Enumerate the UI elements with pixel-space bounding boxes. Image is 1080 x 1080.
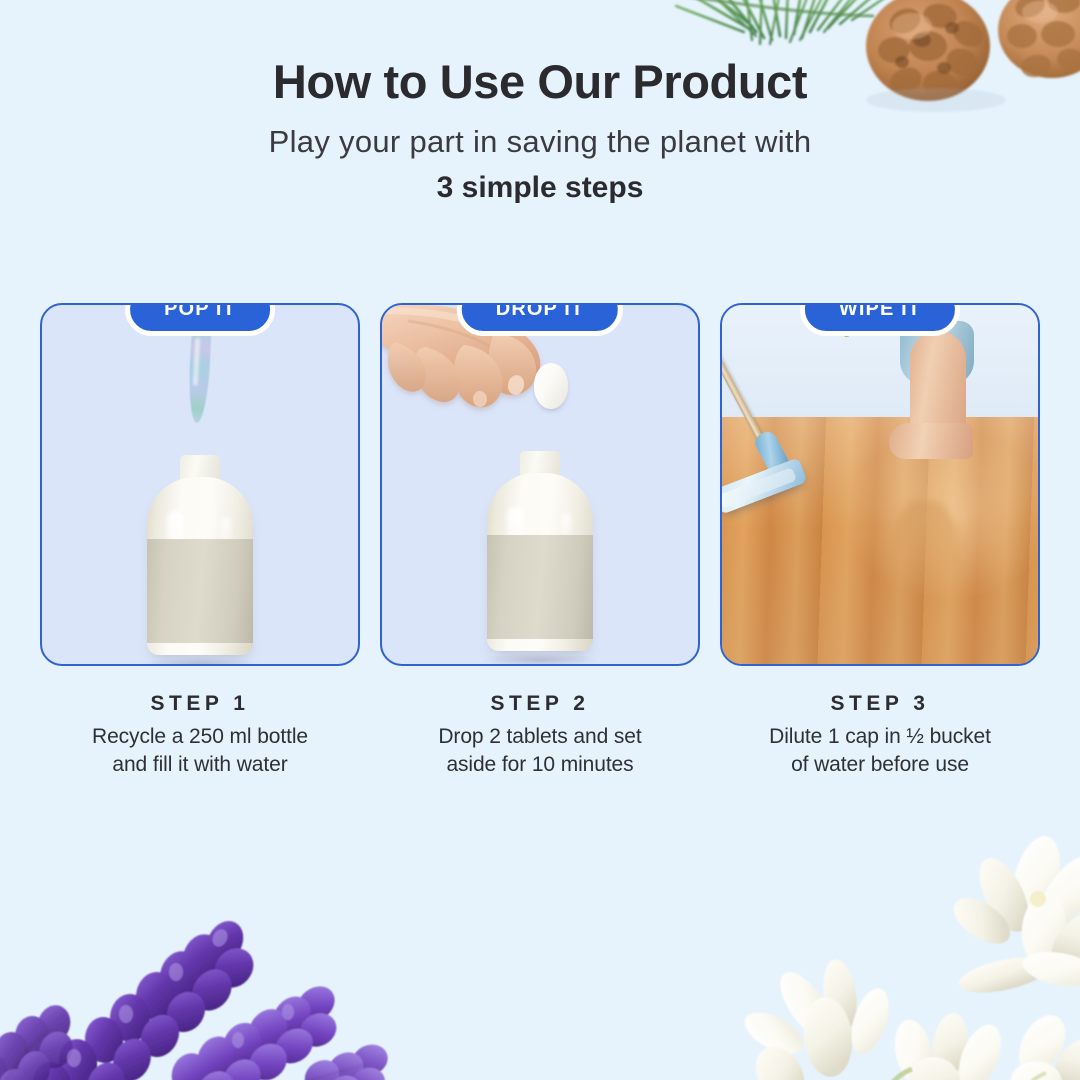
lavender-sprigs-decoration	[0, 840, 410, 1080]
bottle-shadow	[481, 653, 599, 664]
step-3-card[interactable]: WIPE IT	[720, 303, 1040, 666]
subtitle-line-1: Play your part in saving the planet with	[0, 123, 1080, 160]
step-1-card[interactable]: POP IT	[40, 303, 360, 666]
step-3-desc-line-2: of water before use	[720, 751, 1040, 779]
step-card-2: DROP IT	[380, 303, 700, 779]
step-1-desc-line-1: Recycle a 250 ml bottle	[40, 723, 360, 751]
bare-foot	[889, 423, 973, 459]
step-1-badge[interactable]: POP IT	[125, 303, 275, 336]
step-3-desc-line-1: Dilute 1 cap in ½ bucket	[720, 723, 1040, 751]
page-title: How to Use Our Product	[0, 56, 1080, 109]
mopping-floor-scene	[722, 305, 1038, 664]
pop-it-illustration	[42, 305, 358, 664]
step-2-desc-line-2: aside for 10 minutes	[380, 751, 700, 779]
bottle-graphic	[135, 455, 265, 664]
poster-canvas: How to Use Our Product Play your part in…	[0, 0, 1080, 1080]
leg-reflection	[890, 501, 960, 641]
subtitle-line-2: 3 simple steps	[0, 170, 1080, 206]
bottle-graphic	[475, 451, 605, 661]
drop-it-illustration	[382, 305, 698, 664]
step-1-caption: STEP 1 Recycle a 250 ml bottle and fill …	[40, 692, 360, 779]
step-card-3: WIPE IT	[720, 303, 1040, 779]
poster-header: How to Use Our Product Play your part in…	[0, 56, 1080, 206]
step-card-1: POP IT STEP 1 Recycle a	[40, 303, 360, 779]
step-2-desc-line-1: Drop 2 tablets and set	[380, 723, 700, 751]
wipe-it-illustration	[722, 305, 1038, 664]
step-2-card[interactable]: DROP IT	[380, 303, 700, 666]
effervescent-tablet-graphic	[534, 363, 568, 409]
step-2-label: STEP 2	[380, 692, 700, 715]
steps-row: POP IT STEP 1 Recycle a	[40, 303, 1040, 779]
step-1-desc-line-2: and fill it with water	[40, 751, 360, 779]
step-3-caption: STEP 3 Dilute 1 cap in ½ bucket of water…	[720, 692, 1040, 779]
white-tuberose-flowers-decoration	[736, 829, 1080, 1080]
bottle-shadow	[141, 657, 259, 664]
step-2-caption: STEP 2 Drop 2 tablets and set aside for …	[380, 692, 700, 779]
step-1-label: STEP 1	[40, 692, 360, 715]
step-3-badge[interactable]: WIPE IT	[800, 303, 960, 336]
step-2-badge[interactable]: DROP IT	[457, 303, 623, 336]
bottle-label	[147, 539, 253, 643]
step-3-label: STEP 3	[720, 692, 1040, 715]
bottle-label	[487, 535, 593, 639]
